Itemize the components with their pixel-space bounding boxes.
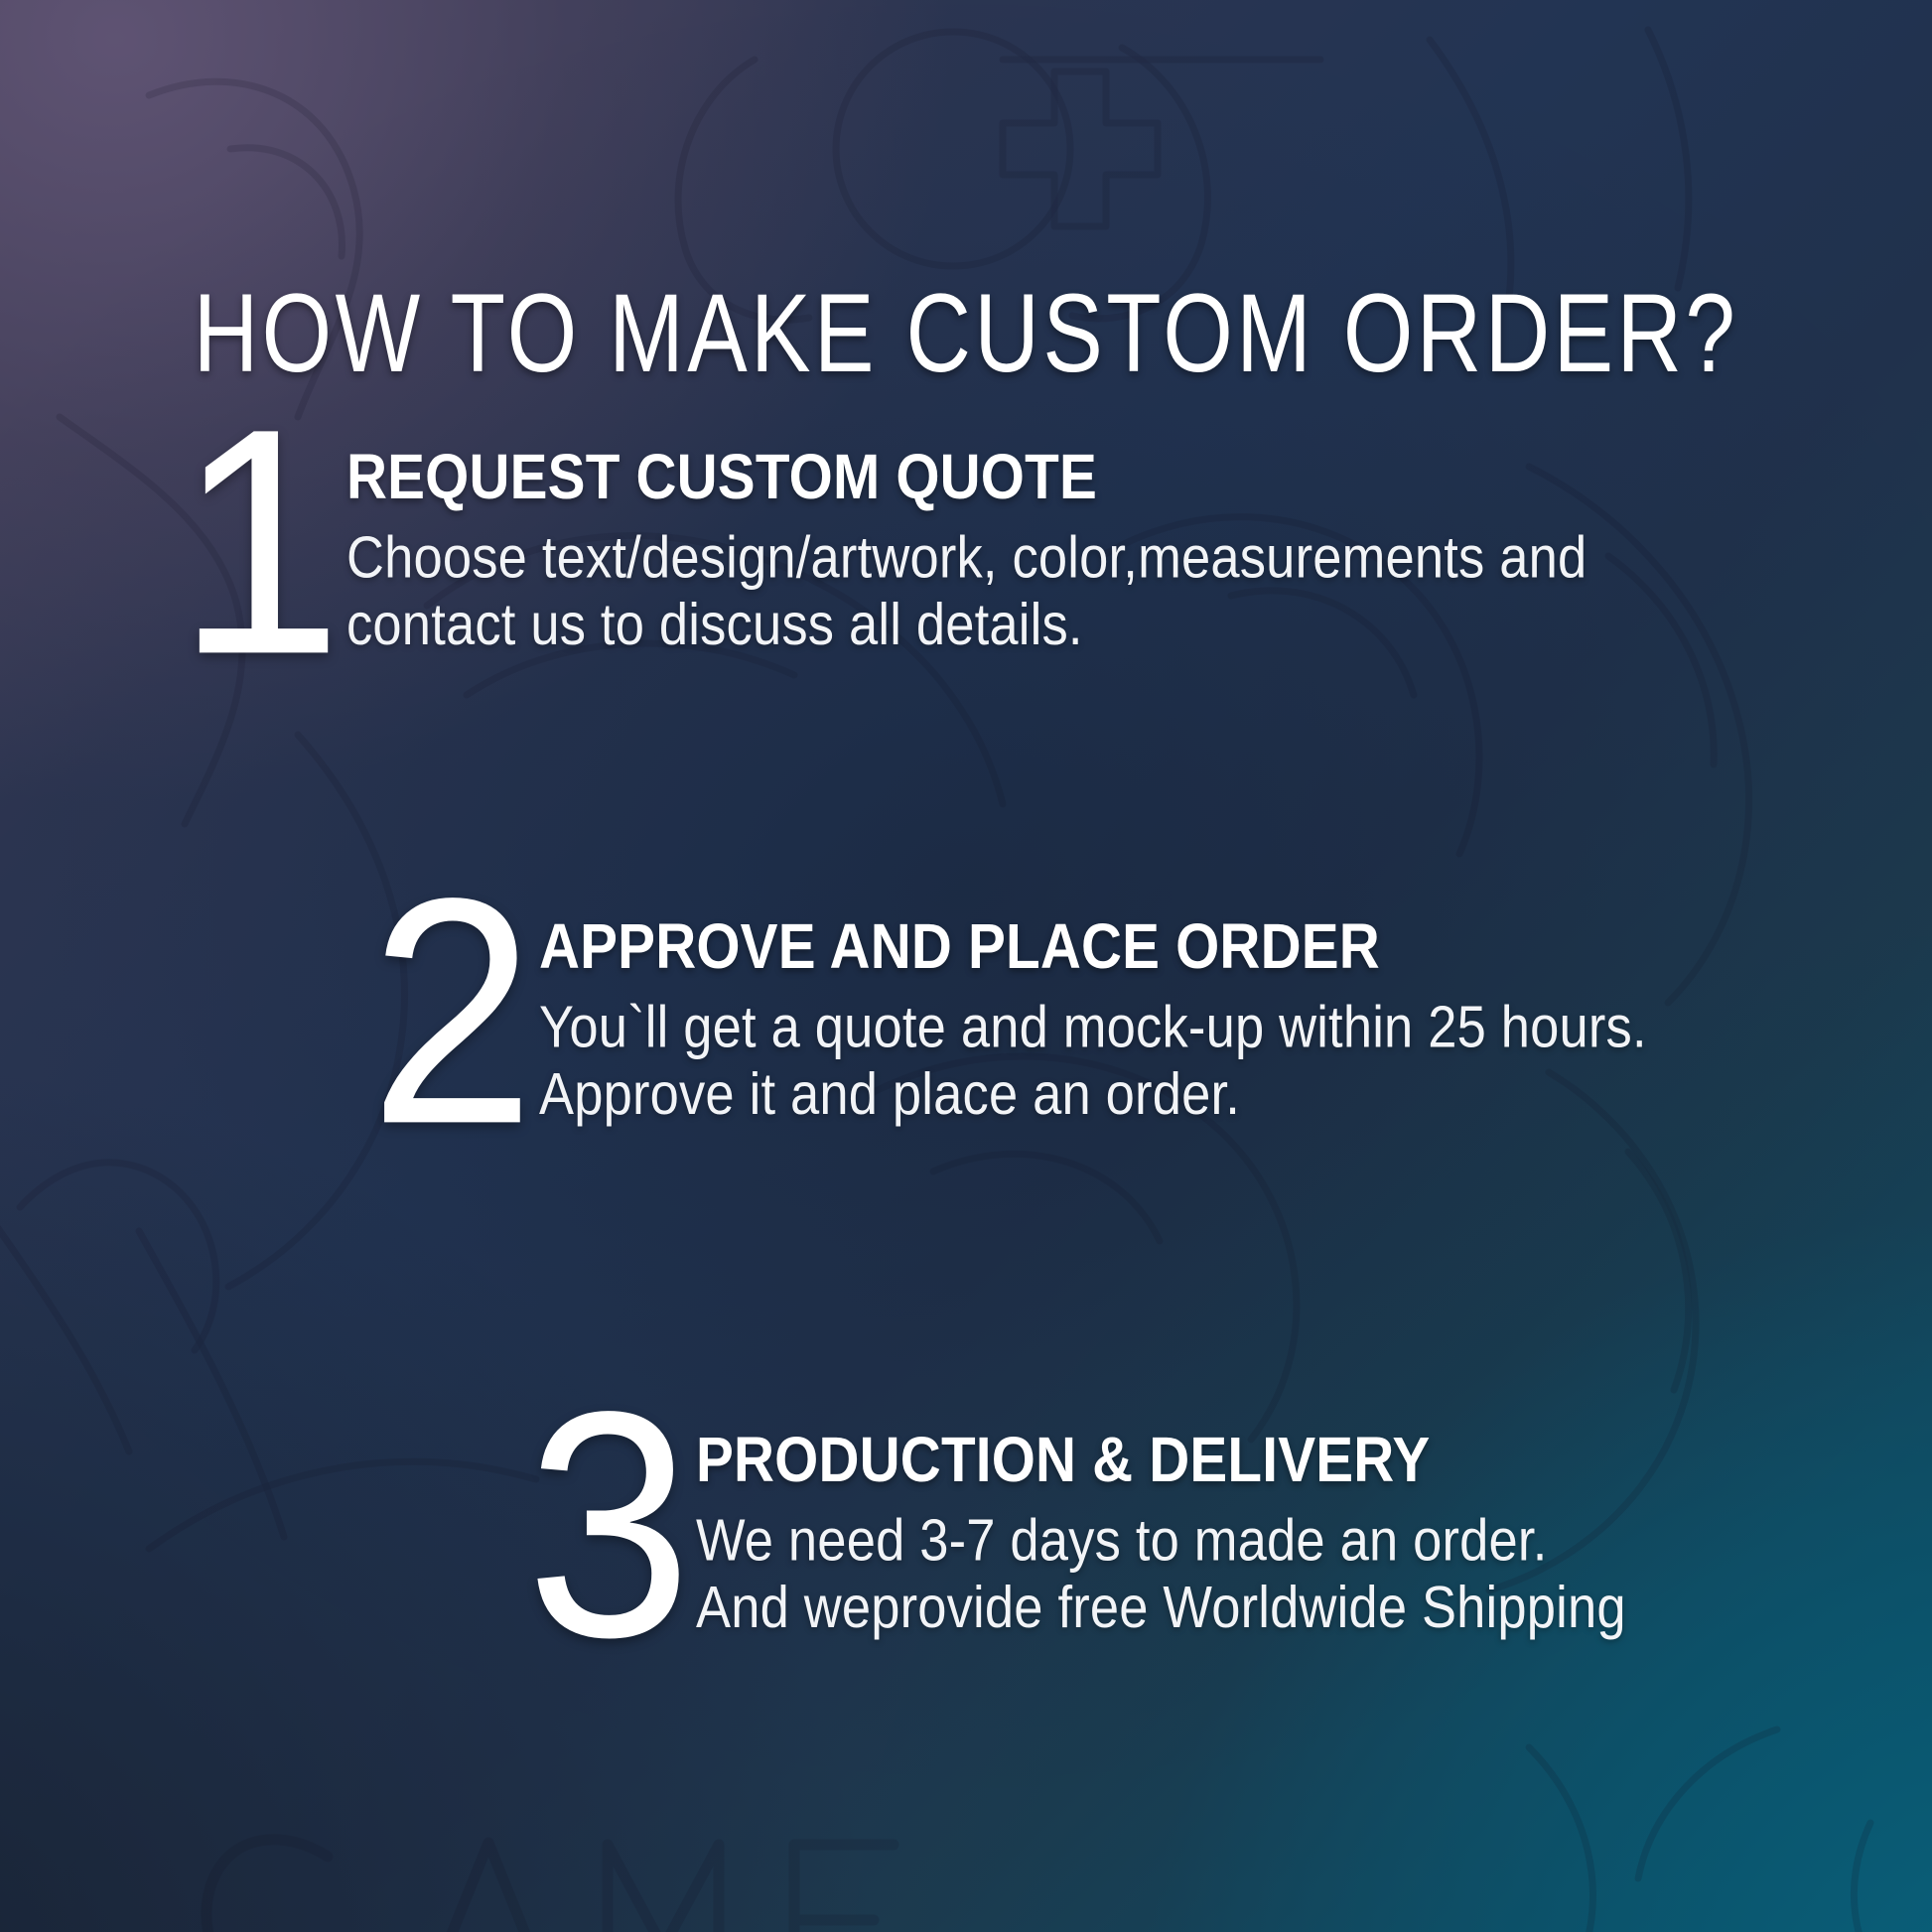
step-description-3-line-2: And weprovide free Worldwide Shipping (696, 1576, 1626, 1643)
poster-content: HOW TO MAKE CUSTOM ORDER? 1 REQUEST CUST… (0, 0, 1932, 1932)
step-number-1: 1 (177, 416, 337, 667)
step-description-3: We need 3-7 days to made an order. And w… (696, 1508, 1626, 1642)
step-heading-2: APPROVE AND PLACE ORDER (539, 914, 1580, 978)
step-body-2: APPROVE AND PLACE ORDER You`ll get a quo… (539, 898, 1658, 1115)
step-description-2-line-2: Approve it and place an order. (539, 1062, 1647, 1130)
poster-canvas: HOW TO MAKE CUSTOM ORDER? 1 REQUEST CUST… (0, 0, 1932, 1932)
step-body-3: PRODUCTION & DELIVERY We need 3-7 days t… (696, 1412, 1635, 1628)
step-description-3-line-1: We need 3-7 days to made an order. (696, 1508, 1626, 1576)
step-item-3: 3 PRODUCTION & DELIVERY We need 3-7 days… (526, 1412, 1635, 1640)
step-heading-1: REQUEST CUSTOM QUOTE (346, 445, 1512, 508)
step-heading-3: PRODUCTION & DELIVERY (696, 1428, 1570, 1491)
step-description-1-line-2: contact us to discuss all details. (346, 593, 1587, 660)
step-number-3: 3 (526, 1399, 686, 1650)
step-description-2-line-1: You`ll get a quote and mock-up within 25… (539, 995, 1647, 1062)
step-number-2: 2 (369, 886, 529, 1137)
step-body-1: REQUEST CUSTOM QUOTE Choose text/design/… (346, 429, 1599, 645)
step-description-2: You`ll get a quote and mock-up within 25… (539, 995, 1647, 1129)
step-description-1: Choose text/design/artwork, color,measur… (346, 525, 1587, 659)
step-description-1-line-1: Choose text/design/artwork, color,measur… (346, 525, 1587, 593)
step-item-2: 2 APPROVE AND PLACE ORDER You`ll get a q… (369, 898, 1658, 1127)
step-item-1: 1 REQUEST CUSTOM QUOTE Choose text/desig… (177, 429, 1599, 657)
